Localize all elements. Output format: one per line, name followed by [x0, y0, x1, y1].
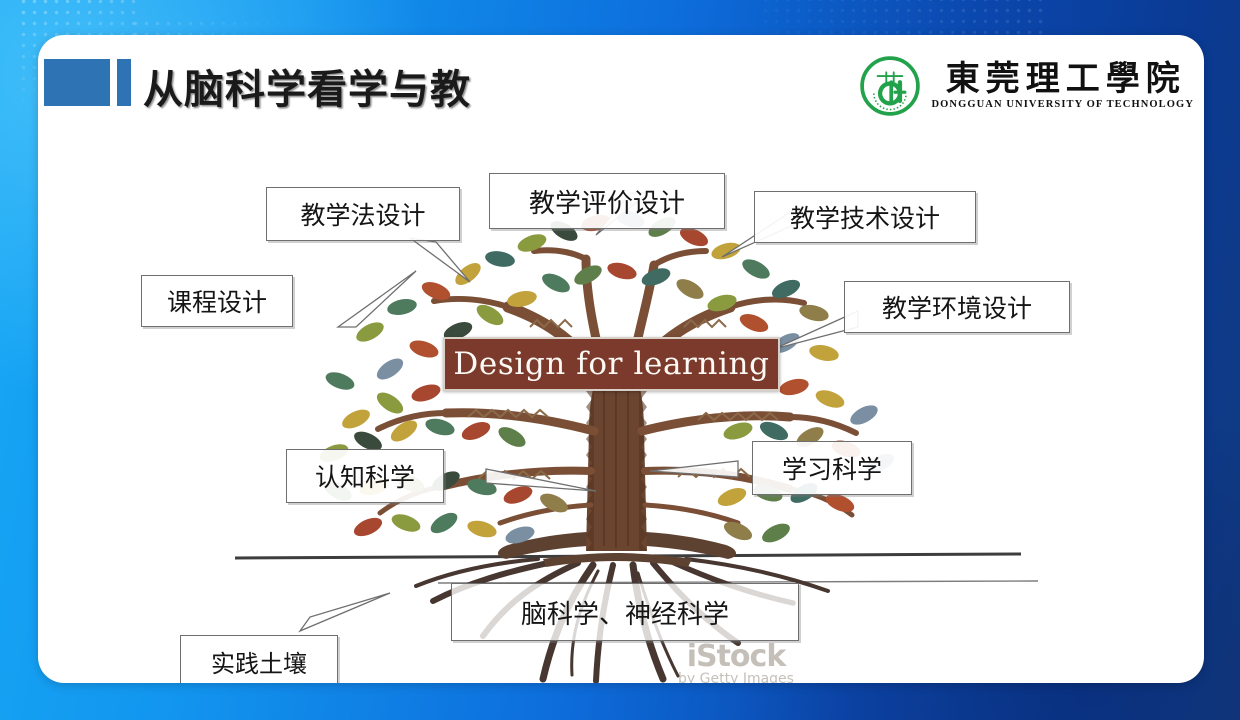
- banner-label: Design for learning: [453, 346, 769, 382]
- title-accent-bar: [117, 59, 131, 106]
- university-emblem-icon: [859, 55, 921, 117]
- callout-pedagogy-design[interactable]: 教学法设计: [266, 187, 460, 241]
- callout-curriculum-design[interactable]: 课程设计: [141, 275, 293, 327]
- callout-technology-design[interactable]: 教学技术设计: [754, 191, 976, 243]
- callout-label: 教学法设计: [300, 196, 425, 232]
- callout-learning-science[interactable]: 学习科学: [752, 441, 912, 495]
- callout-label: 认知科学: [315, 458, 415, 494]
- slide-background: 从脑科学看学与教 東莞理工學院 DONGGUAN UNIVERSITY OF T…: [0, 0, 1240, 720]
- callout-environment-design[interactable]: 教学环境设计: [844, 281, 1070, 333]
- callout-label: 课程设计: [167, 283, 267, 319]
- callout-label: 教学环境设计: [882, 289, 1032, 325]
- title-accent-block: [44, 59, 110, 106]
- leader-curriculum: [338, 271, 416, 327]
- callout-label: 实践土壤: [211, 644, 307, 679]
- leader-soil: [300, 593, 390, 631]
- callout-label: 教学技术设计: [790, 199, 940, 235]
- callout-practice-soil[interactable]: 实践土壤: [180, 635, 338, 683]
- university-name-en: DONGGUAN UNIVERSITY OF TECHNOLOGY: [931, 100, 1194, 111]
- callout-label: 教学评价设计: [529, 183, 685, 220]
- slide-card: 从脑科学看学与教 東莞理工學院 DONGGUAN UNIVERSITY OF T…: [38, 35, 1204, 683]
- concept-tree-diagram: 课程设计 教学法设计 教学评价设计 教学技术设计 教学环境设计 认知科学 学习科…: [38, 131, 1204, 683]
- callout-brain-neuroscience[interactable]: 脑科学、神经科学: [451, 583, 799, 641]
- callout-label: 学习科学: [782, 450, 882, 486]
- design-for-learning-banner: Design for learning: [443, 337, 780, 391]
- callout-assessment-design[interactable]: 教学评价设计: [489, 173, 725, 229]
- page-title: 从脑科学看学与教: [143, 57, 471, 115]
- callout-cognitive-science[interactable]: 认知科学: [286, 449, 444, 503]
- callout-label: 脑科学、神经科学: [521, 594, 729, 631]
- university-name-cn: 東莞理工學院: [940, 62, 1186, 96]
- university-name: 東莞理工學院 DONGGUAN UNIVERSITY OF TECHNOLOGY: [931, 62, 1194, 111]
- leader-pedagogy: [410, 238, 470, 282]
- university-logo: 東莞理工學院 DONGGUAN UNIVERSITY OF TECHNOLOGY: [859, 55, 1194, 117]
